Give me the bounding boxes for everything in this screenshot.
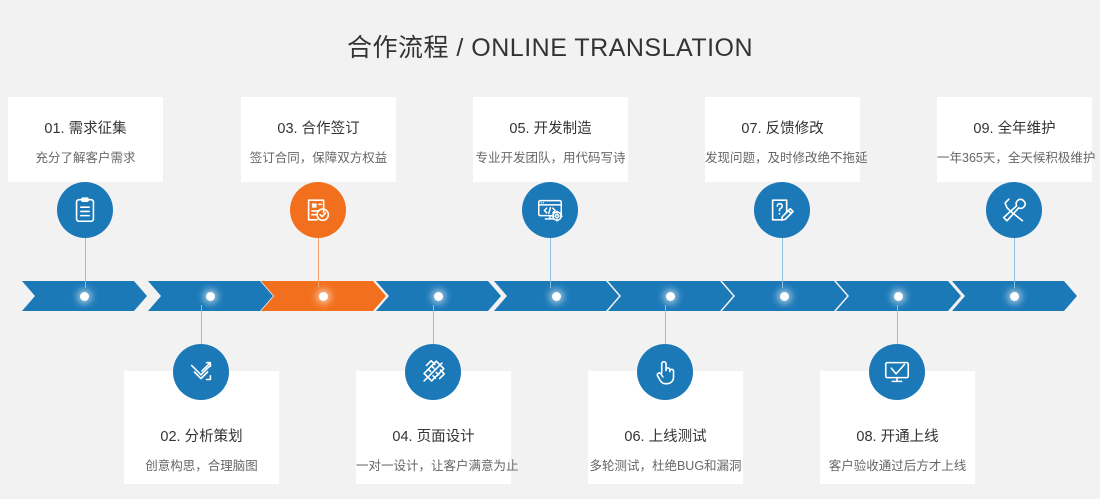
step-icon-circle-09[interactable] xyxy=(986,182,1042,238)
step-title: 05. 开发制造 xyxy=(473,119,628,139)
code-window-gear-icon xyxy=(535,195,565,225)
timeline-node-dot xyxy=(206,292,215,301)
wrench-screwdriver-icon xyxy=(999,195,1029,225)
timeline-segment-5[interactable] xyxy=(494,281,619,311)
timeline-node-dot xyxy=(319,292,328,301)
step-icon-circle-03[interactable] xyxy=(290,182,346,238)
step-card-03: 03. 合作签订 签订合同，保障双方权益 xyxy=(241,97,396,182)
question-pencil-icon xyxy=(767,195,797,225)
step-description: 一对一设计，让客户满意为止 xyxy=(356,457,511,475)
step-title: 07. 反馈修改 xyxy=(705,119,860,139)
step-description: 发现问题，及时修改绝不拖延 xyxy=(705,149,860,167)
step-description: 专业开发团队，用代码写诗 xyxy=(473,149,628,167)
step-card-05: 05. 开发制造 专业开发团队，用代码写诗 xyxy=(473,97,628,182)
step-card-07: 07. 反馈修改 发现问题，及时修改绝不拖延 xyxy=(705,97,860,182)
pointing-hand-icon xyxy=(650,357,680,387)
timeline-segment-7[interactable] xyxy=(722,281,847,311)
timeline-segment-8[interactable] xyxy=(836,281,961,311)
timeline-node-dot xyxy=(1010,292,1019,301)
timeline-node-dot xyxy=(552,292,561,301)
monitor-check-icon xyxy=(882,357,912,387)
step-description: 充分了解客户需求 xyxy=(8,149,163,167)
step-card-09: 09. 全年维护 一年365天，全天候积极维护 xyxy=(937,97,1092,182)
step-title: 02. 分析策划 xyxy=(124,427,279,447)
timeline-node-dot xyxy=(666,292,675,301)
step-title: 01. 需求征集 xyxy=(8,119,163,139)
step-description: 创意构思，合理脑图 xyxy=(124,457,279,475)
timeline-node-dot xyxy=(894,292,903,301)
timeline-segment-3[interactable] xyxy=(261,281,386,311)
contract-check-icon xyxy=(303,195,333,225)
step-description: 多轮测试，杜绝BUG和漏洞 xyxy=(588,457,743,475)
timeline-segment-4[interactable] xyxy=(376,281,501,311)
step-title: 04. 页面设计 xyxy=(356,427,511,447)
analysis-arrow-icon xyxy=(186,357,216,387)
step-card-01: 01. 需求征集 充分了解客户需求 xyxy=(8,97,163,182)
timeline-segment-6[interactable] xyxy=(608,281,733,311)
step-icon-circle-05[interactable] xyxy=(522,182,578,238)
clipboard-icon xyxy=(70,195,100,225)
pencil-ruler-icon xyxy=(418,357,448,387)
process-flow-infographic: 合作流程 / ONLINE TRANSLATION xyxy=(0,0,1100,499)
step-icon-circle-07[interactable] xyxy=(754,182,810,238)
step-icon-circle-06[interactable] xyxy=(637,344,693,400)
step-icon-circle-02[interactable] xyxy=(173,344,229,400)
step-title: 03. 合作签订 xyxy=(241,119,396,139)
step-icon-circle-04[interactable] xyxy=(405,344,461,400)
step-description: 一年365天，全天候积极维护 xyxy=(937,149,1092,167)
timeline-node-dot xyxy=(80,292,89,301)
step-title: 09. 全年维护 xyxy=(937,119,1092,139)
timeline-segment-2[interactable] xyxy=(148,281,273,311)
timeline-node-dot xyxy=(780,292,789,301)
step-icon-circle-08[interactable] xyxy=(869,344,925,400)
step-description: 签订合同，保障双方权益 xyxy=(241,149,396,167)
timeline-node-dot xyxy=(434,292,443,301)
step-title: 06. 上线测试 xyxy=(588,427,743,447)
page-title: 合作流程 / ONLINE TRANSLATION xyxy=(0,28,1100,64)
step-description: 客户验收通过后方才上线 xyxy=(820,457,975,475)
step-title: 08. 开通上线 xyxy=(820,427,975,447)
step-icon-circle-01[interactable] xyxy=(57,182,113,238)
